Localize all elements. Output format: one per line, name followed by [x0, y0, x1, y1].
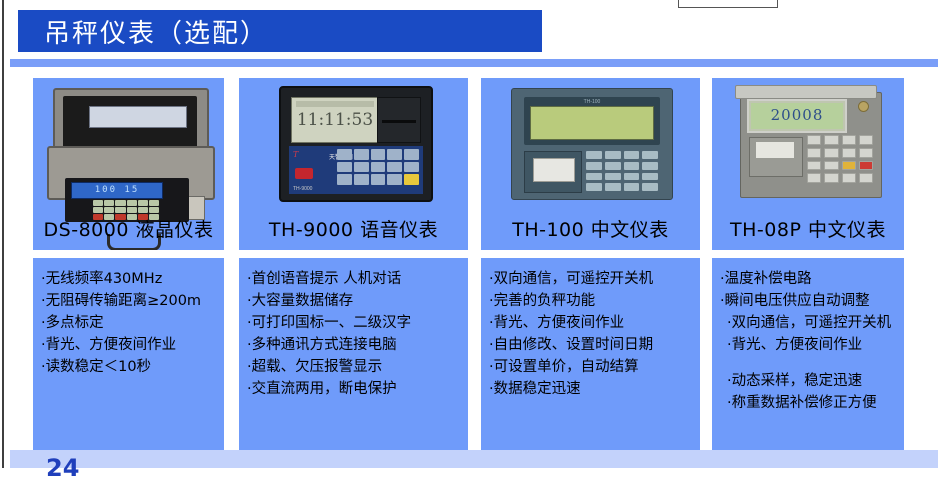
list-item: ·称重数据补偿修正方便 — [720, 392, 904, 414]
list-item: ·瞬间电压供应自动调整 — [720, 290, 904, 312]
th100-lcd-screen — [530, 106, 654, 140]
product-card-ds8000[interactable]: 100 15 DS-8000 液晶仪表 ·无线频率430MHz ·无阻碍传输距离… — [33, 78, 224, 450]
list-item: ·温度补偿电路 — [720, 268, 904, 290]
th100-model-text: TH-100 — [524, 99, 660, 105]
list-item: ·首创语音提示 人机对话 — [247, 268, 468, 290]
list-item: ·超载、欠压报警显示 — [247, 356, 468, 378]
product-image-panel-th100: TH-100 TH-100 中文仪表 — [481, 78, 700, 250]
product-card-th9000[interactable]: 11:11:53 T 天智公司 TH-9000 — [239, 78, 468, 450]
th9000-lcd-value: 11:11:53 — [292, 110, 378, 130]
compact-indicator-icon: 20008 — [712, 82, 904, 212]
list-item: ·可打印国标一、二级汉字 — [247, 312, 468, 334]
list-item: ·背光、方便夜间作业 — [41, 334, 224, 356]
product-caption-th100: TH-100 中文仪表 — [481, 215, 700, 242]
top-cropped-placeholder-box — [678, 0, 778, 8]
list-item: ·数据稳定迅速 — [489, 378, 700, 400]
list-item: ·多种通讯方式连接电脑 — [247, 334, 468, 356]
product-features-panel-th08p: ·温度补偿电路 ·瞬间电压供应自动调整 ·双向通信，可遥控开关机 ·背光、方便夜… — [712, 258, 904, 450]
list-item: ·双向通信，可遥控开关机 — [489, 268, 700, 290]
product-caption-ds8000: DS-8000 液晶仪表 — [33, 215, 224, 242]
product-features-panel-ds8000: ·无线频率430MHz ·无阻碍传输距离≥200m ·多点标定 ·背光、方便夜间… — [33, 258, 224, 450]
ds8000-lcd-value: 100 15 — [71, 182, 163, 199]
product-caption-th9000: TH-9000 语音仪表 — [239, 215, 468, 242]
list-item: ·大容量数据储存 — [247, 290, 468, 312]
th08p-lcd-value: 20008 — [751, 103, 843, 129]
list-item: ·可设置单价，自动结算 — [489, 356, 700, 378]
product-image-panel-th08p: 20008 TH-08P 中文仪表 — [712, 78, 904, 250]
feature-list-th100: ·双向通信，可遥控开关机 ·完善的负秤功能 ·背光、方便夜间作业 ·自由修改、设… — [481, 258, 700, 400]
page-title: 吊秤仪表（选配） — [44, 13, 268, 50]
list-item: ·交直流两用，断电保护 — [247, 378, 468, 400]
product-card-th100[interactable]: TH-100 TH-100 中文仪表 ·双向通信，可遥控开关机 ·完善 — [481, 78, 700, 450]
product-card-th08p[interactable]: 20008 TH-08P 中文仪表 ·温度补偿电路 ·瞬间电压供应自动调整 — [712, 78, 904, 450]
voice-indicator-icon: 11:11:53 T 天智公司 TH-9000 — [239, 82, 468, 212]
feature-list-th08p: ·温度补偿电路 ·瞬间电压供应自动调整 ·双向通信，可遥控开关机 ·背光、方便夜… — [712, 258, 904, 414]
th9000-model-text: TH-9000 — [293, 186, 312, 192]
product-image-panel-th9000: 11:11:53 T 天智公司 TH-9000 — [239, 78, 468, 250]
product-cards-row: 100 15 DS-8000 液晶仪表 ·无线频率430MHz ·无阻碍传输距离… — [0, 78, 938, 450]
briefcase-scale-indicator-icon: 100 15 — [33, 82, 224, 212]
feature-list-th9000: ·首创语音提示 人机对话 ·大容量数据储存 ·可打印国标一、二级汉字 ·多种通讯… — [239, 258, 468, 400]
list-item: ·无线频率430MHz — [41, 268, 224, 290]
title-divider-bar — [10, 59, 938, 67]
list-item: ·双向通信，可遥控开关机 — [720, 312, 904, 334]
list-item: ·完善的负秤功能 — [489, 290, 700, 312]
product-caption-th08p: TH-08P 中文仪表 — [712, 215, 904, 242]
product-features-panel-th9000: ·首创语音提示 人机对话 ·大容量数据储存 ·可打印国标一、二级汉字 ·多种通讯… — [239, 258, 468, 450]
page-number: 24 — [46, 454, 79, 482]
list-item: ·动态采样，稳定迅速 — [720, 370, 904, 392]
list-item: ·自由修改、设置时间日期 — [489, 334, 700, 356]
list-item: ·背光、方便夜间作业 — [489, 312, 700, 334]
feature-list-ds8000: ·无线频率430MHz ·无阻碍传输距离≥200m ·多点标定 ·背光、方便夜间… — [33, 258, 224, 378]
slide-title-banner: 吊秤仪表（选配） — [18, 10, 542, 52]
list-item: ·读数稳定＜10秒 — [41, 356, 224, 378]
list-item: ·无阻碍传输距离≥200m — [41, 290, 224, 312]
list-item: ·背光、方便夜间作业 — [720, 334, 904, 356]
footer-band — [10, 450, 938, 468]
list-item: ·多点标定 — [41, 312, 224, 334]
list-item-spacer — [720, 356, 904, 370]
product-features-panel-th100: ·双向通信，可遥控开关机 ·完善的负秤功能 ·背光、方便夜间作业 ·自由修改、设… — [481, 258, 700, 450]
product-image-panel-ds8000: 100 15 DS-8000 液晶仪表 — [33, 78, 224, 250]
chinese-indicator-icon: TH-100 — [481, 82, 700, 212]
